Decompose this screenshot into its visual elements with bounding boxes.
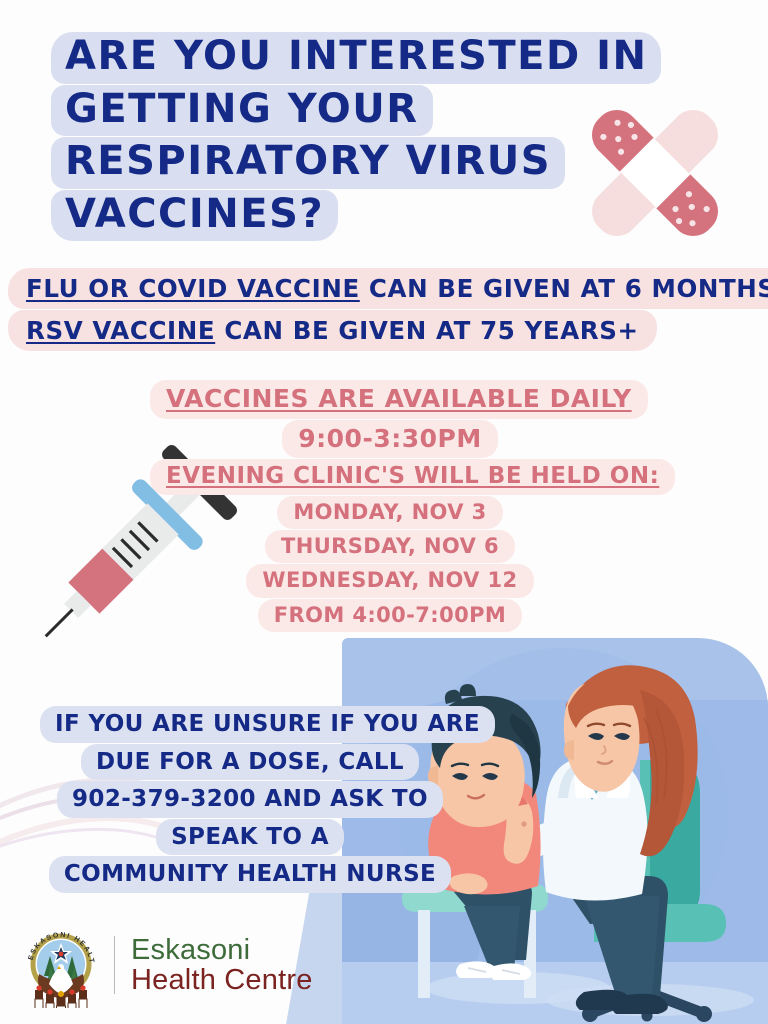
schedule-evening-hours: FROM 4:00-7:00PM	[258, 599, 522, 632]
contact-block: IF YOU ARE UNSURE IF YOU ARE DUE FOR A D…	[40, 706, 460, 894]
headline-line-4: VACCINES?	[51, 190, 338, 242]
schedule-daily-hours-row: 9:00-3:30PM	[150, 420, 630, 460]
contact-row-3: 902-379-3200 AND ASK TO	[40, 781, 460, 819]
contact-line-3-phone: 902-379-3200 AND ASK TO	[57, 781, 443, 818]
eligibility-block: FLU OR COVID VACCINE CAN BE GIVEN AT 6 M…	[8, 268, 762, 352]
eligibility-1-rest: CAN BE GIVEN AT 6 MONTHS+	[360, 274, 768, 303]
schedule-daily-heading: VACCINES ARE AVAILABLE DAILY	[166, 384, 632, 413]
contact-line-5: COMMUNITY HEALTH NURSE	[49, 856, 451, 893]
headline-line-3: RESPIRATORY VIRUS	[51, 137, 565, 189]
logo-line-2: Health Centre	[131, 965, 313, 995]
eskasoni-health-centre-logo: ESKASONI HEALTH	[20, 922, 313, 1008]
schedule-date-3: WEDNESDAY, NOV 12	[246, 564, 533, 597]
schedule-evening-heading-row: EVENING CLINIC'S WILL BE HELD ON:	[150, 459, 630, 496]
contact-row-1: IF YOU ARE UNSURE IF YOU ARE	[40, 706, 460, 744]
contact-row-2: DUE FOR A DOSE, CALL	[40, 744, 460, 782]
schedule-date-row-3: WEDNESDAY, NOV 12	[150, 564, 630, 598]
logo-divider	[114, 936, 115, 994]
logo-line-1: Eskasoni	[131, 935, 313, 965]
schedule-date-row-1: MONDAY, NOV 3	[150, 496, 630, 530]
contact-row-5: COMMUNITY HEALTH NURSE	[40, 856, 460, 894]
schedule-date-1: MONDAY, NOV 3	[277, 496, 502, 529]
eligibility-1-emphasis: FLU OR COVID VACCINE	[26, 274, 360, 303]
schedule-evening-hours-row: FROM 4:00-7:00PM	[150, 599, 630, 633]
vaccine-clinic-poster: ARE YOU INTERESTED IN GETTING YOUR RESPI…	[0, 0, 768, 1024]
schedule-evening-heading: EVENING CLINIC'S WILL BE HELD ON:	[166, 463, 659, 489]
headline-line-2: GETTING YOUR	[51, 85, 433, 137]
eligibility-line-1: FLU OR COVID VACCINE CAN BE GIVEN AT 6 M…	[8, 268, 768, 309]
schedule-date-2: THURSDAY, NOV 6	[265, 530, 515, 563]
eligibility-2-emphasis: RSV VACCINE	[26, 316, 215, 345]
contact-line-4: SPEAK TO A	[156, 819, 344, 856]
crossed-bandages-icon	[560, 88, 750, 263]
contact-line-2: DUE FOR A DOSE, CALL	[81, 744, 419, 781]
eskasoni-emblem-icon: ESKASONI HEALTH	[20, 922, 102, 1008]
headline-line-1: ARE YOU INTERESTED IN	[51, 32, 661, 84]
schedule-block: VACCINES ARE AVAILABLE DAILY 9:00-3:30PM…	[150, 380, 630, 633]
contact-line-1: IF YOU ARE UNSURE IF YOU ARE	[40, 706, 495, 743]
schedule-date-row-2: THURSDAY, NOV 6	[150, 530, 630, 564]
eligibility-2-rest: CAN BE GIVEN AT 75 YEARS+	[215, 316, 638, 345]
poster-headline: ARE YOU INTERESTED IN GETTING YOUR RESPI…	[35, 10, 595, 260]
contact-row-4: SPEAK TO A	[40, 819, 460, 857]
logo-wordmark: Eskasoni Health Centre	[131, 935, 313, 995]
schedule-daily-hours: 9:00-3:30PM	[282, 420, 497, 459]
eligibility-line-2: RSV VACCINE CAN BE GIVEN AT 75 YEARS+	[8, 310, 657, 351]
schedule-daily-heading-row: VACCINES ARE AVAILABLE DAILY	[150, 380, 630, 420]
